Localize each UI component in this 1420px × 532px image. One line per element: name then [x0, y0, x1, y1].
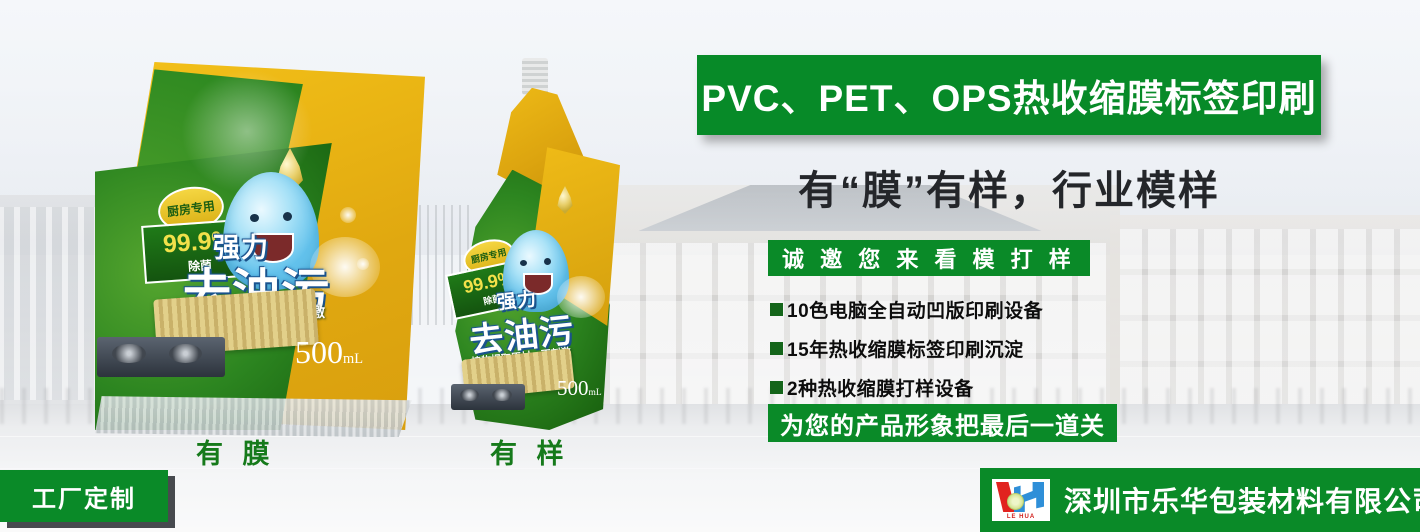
volume-unit: mL	[343, 351, 363, 367]
list-item: 10色电脑全自动凹版印刷设备	[770, 296, 1043, 323]
bullet-square-icon	[770, 303, 783, 316]
bottle-volume-value: 500	[557, 376, 589, 400]
volume-value: 500	[295, 334, 343, 370]
feature-item-text: 15年热收缩膜标签印刷沉淀	[787, 335, 1024, 362]
bottle-mascot-eye-left	[520, 260, 527, 266]
factory-custom-tag: 工厂定制	[0, 470, 168, 522]
bullet-square-icon	[770, 342, 783, 355]
logo-dot-shape	[1007, 493, 1024, 510]
bottle-stove-illustration	[451, 384, 525, 410]
list-item: 15年热收缩膜标签印刷沉淀	[770, 335, 1043, 362]
mascot-eye-left	[250, 214, 259, 222]
factory-custom-tag-text: 工厂定制	[32, 479, 136, 514]
mascot-eye-right	[283, 212, 292, 221]
water-splash-3	[357, 258, 369, 270]
invite-tag: 诚 邀 您 来 看 模 打 样	[768, 240, 1090, 276]
promo-banner: 厨房专用 99.9% 除菌 强力 去油污 植物提取原材，不刺激 500mL	[0, 0, 1420, 532]
product-bottle: 厨房专用 99.9% 除菌 强力 去油污 植物提取原材，不刺激 500mL	[445, 58, 620, 430]
list-item: 2种热收缩膜打样设备	[770, 374, 1043, 401]
water-splash-2	[340, 207, 356, 223]
bottle-mascot-eye-right	[544, 258, 551, 265]
headline-band-text: PVC、PET、OPS热收缩膜标签印刷	[701, 68, 1316, 122]
company-logo-icon: LE HUA	[992, 479, 1050, 521]
feature-item-text: 2种热收缩膜打样设备	[787, 374, 974, 401]
gas-stove-illustration	[97, 337, 225, 377]
company-bar: LE HUA 深圳市乐华包装材料有限公司	[980, 468, 1420, 532]
slogan-text: 有“膜”有样，行业模样	[697, 158, 1321, 216]
feature-list: 10色电脑全自动凹版印刷设备 15年热收缩膜标签印刷沉淀 2种热收缩膜打样设备	[770, 296, 1043, 413]
volume-mark: 500mL	[295, 334, 363, 371]
invite-tag-text: 诚 邀 您 来 看 模 打 样	[782, 242, 1076, 274]
promise-tag-text: 为您的产品形象把最后一道关	[780, 406, 1105, 441]
bottle-volume-unit: mL	[589, 388, 602, 398]
kitchen-use-badge-text: 厨房专用	[166, 199, 215, 218]
logo-caption: LE HUA	[992, 514, 1050, 520]
headline-band: PVC、PET、OPS热收缩膜标签印刷	[697, 55, 1321, 135]
caption-pouch: 有 膜	[196, 432, 276, 471]
bullet-square-icon	[770, 381, 783, 394]
product-pouch: 厨房专用 99.9% 除菌 强力 去油污 植物提取原材，不刺激 500mL	[95, 62, 425, 430]
bottle-volume-mark: 500mL	[557, 376, 602, 401]
company-name: 深圳市乐华包装材料有限公司	[1064, 480, 1420, 520]
caption-bottle: 有 样	[490, 432, 570, 471]
promise-tag: 为您的产品形象把最后一道关	[768, 404, 1117, 442]
feature-item-text: 10色电脑全自动凹版印刷设备	[787, 296, 1043, 323]
